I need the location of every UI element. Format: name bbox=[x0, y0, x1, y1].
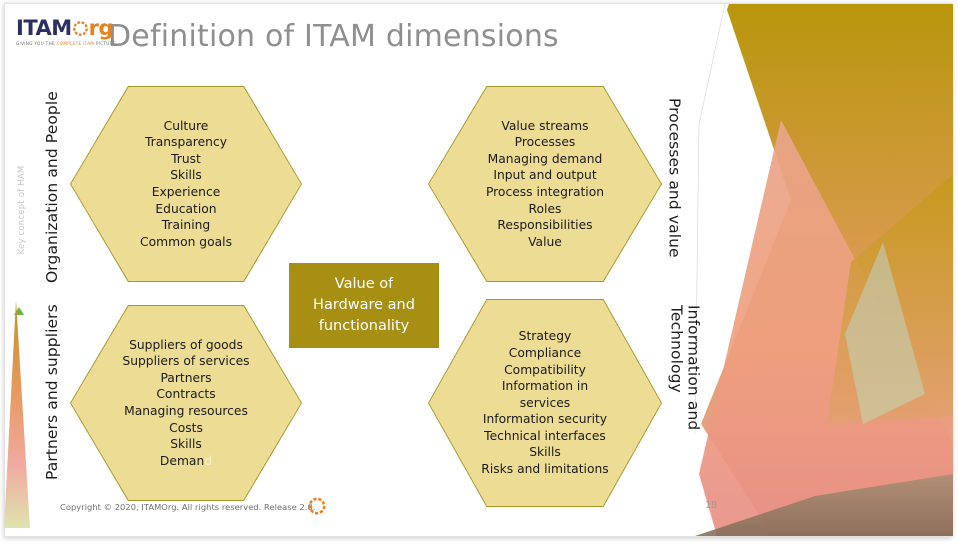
hexagon-information-items: Strategy Compliance Compatibility Inform… bbox=[455, 328, 636, 477]
list-item: Roles bbox=[455, 201, 636, 218]
center-line-2: Hardware and bbox=[313, 295, 415, 316]
list-item: Compatibility bbox=[455, 362, 636, 379]
list-item: Transparency bbox=[96, 134, 275, 151]
list-item: Skills bbox=[96, 436, 275, 453]
page-title: Definition of ITAM dimensions bbox=[108, 19, 559, 54]
list-item-demand: Demand bbox=[96, 453, 275, 470]
slide-canvas: ITAM rg GIVING YOU THE COMPLETE ITAM PIC… bbox=[0, 0, 958, 545]
copyright-notice: Copyright © 2020, ITAMOrg. All rights re… bbox=[60, 502, 316, 512]
list-item: Suppliers of services bbox=[96, 353, 275, 370]
list-item: Strategy bbox=[455, 328, 636, 345]
list-item: Trust bbox=[96, 151, 275, 168]
hexagon-organization-items: Culture Transparency Trust Skills Experi… bbox=[96, 118, 275, 251]
logo-tagline-a: GIVING YOU THE bbox=[16, 41, 57, 46]
dimension-label-processes: Processes and value bbox=[666, 98, 683, 276]
list-item: Compliance bbox=[455, 345, 636, 362]
footer-gear-icon bbox=[306, 495, 328, 517]
logo-tagline-b: COMPLETE ITAM bbox=[57, 41, 95, 46]
list-item: Managing resources bbox=[96, 403, 275, 420]
dimension-label-partners: Partners and suppliers bbox=[44, 318, 61, 480]
dimension-label-organization: Organization and People bbox=[44, 85, 61, 283]
list-item: Contracts bbox=[96, 386, 275, 403]
list-item: Skills bbox=[455, 444, 636, 461]
decorative-polygons bbox=[695, 4, 953, 536]
list-item: Responsibilities bbox=[455, 217, 636, 234]
list-item: Managing demand bbox=[455, 151, 636, 168]
list-item-demand-text: Deman bbox=[160, 454, 204, 468]
list-item: Training bbox=[96, 217, 275, 234]
list-item: Suppliers of goods bbox=[96, 337, 275, 354]
list-item: Process integration bbox=[455, 184, 636, 201]
dimension-label-information-line2: Technology bbox=[668, 305, 685, 485]
list-item: Value bbox=[455, 234, 636, 251]
list-item: Technical interfaces bbox=[455, 428, 636, 445]
key-concept-caption: Key concept of HAM bbox=[17, 150, 27, 270]
list-item: Experience bbox=[96, 184, 275, 201]
list-item: Risks and limitations bbox=[455, 461, 636, 478]
hexagon-processes-items: Value streams Processes Managing demand … bbox=[455, 118, 636, 251]
list-item: Information security bbox=[455, 411, 636, 428]
list-item: Value streams bbox=[455, 118, 636, 135]
hexagon-partners-items: Suppliers of goods Suppliers of services… bbox=[96, 337, 275, 470]
logo-gear-icon bbox=[72, 20, 89, 37]
page-number: 18 bbox=[705, 500, 717, 511]
list-item: Costs bbox=[96, 420, 275, 437]
itamorg-logo: ITAM rg GIVING YOU THE COMPLETE ITAM PIC… bbox=[16, 18, 116, 54]
list-item: Partners bbox=[96, 370, 275, 387]
list-item: Processes bbox=[455, 134, 636, 151]
center-value-box: Value of Hardware and functionality bbox=[289, 263, 439, 348]
dimension-label-information-line1: Information and bbox=[685, 305, 702, 485]
logo-tagline: GIVING YOU THE COMPLETE ITAM PICTURE bbox=[16, 41, 116, 46]
list-item: Information in services bbox=[480, 378, 610, 411]
list-item: Education bbox=[96, 201, 275, 218]
decorative-artwork bbox=[695, 4, 953, 536]
dimension-label-information: Information and Technology bbox=[668, 305, 701, 485]
logo-text-itam: ITAM bbox=[16, 16, 72, 40]
center-line-3: functionality bbox=[313, 316, 415, 337]
gradient-wedge bbox=[4, 300, 38, 528]
list-item: Skills bbox=[96, 167, 275, 184]
list-item: Culture bbox=[96, 118, 275, 135]
center-value-text: Value of Hardware and functionality bbox=[313, 274, 415, 337]
list-item: Common goals bbox=[96, 234, 275, 251]
logo-wordmark: ITAM rg bbox=[16, 18, 116, 39]
list-item-demand-tail: d bbox=[204, 454, 212, 468]
center-line-1: Value of bbox=[313, 274, 415, 295]
list-item: Input and output bbox=[455, 167, 636, 184]
